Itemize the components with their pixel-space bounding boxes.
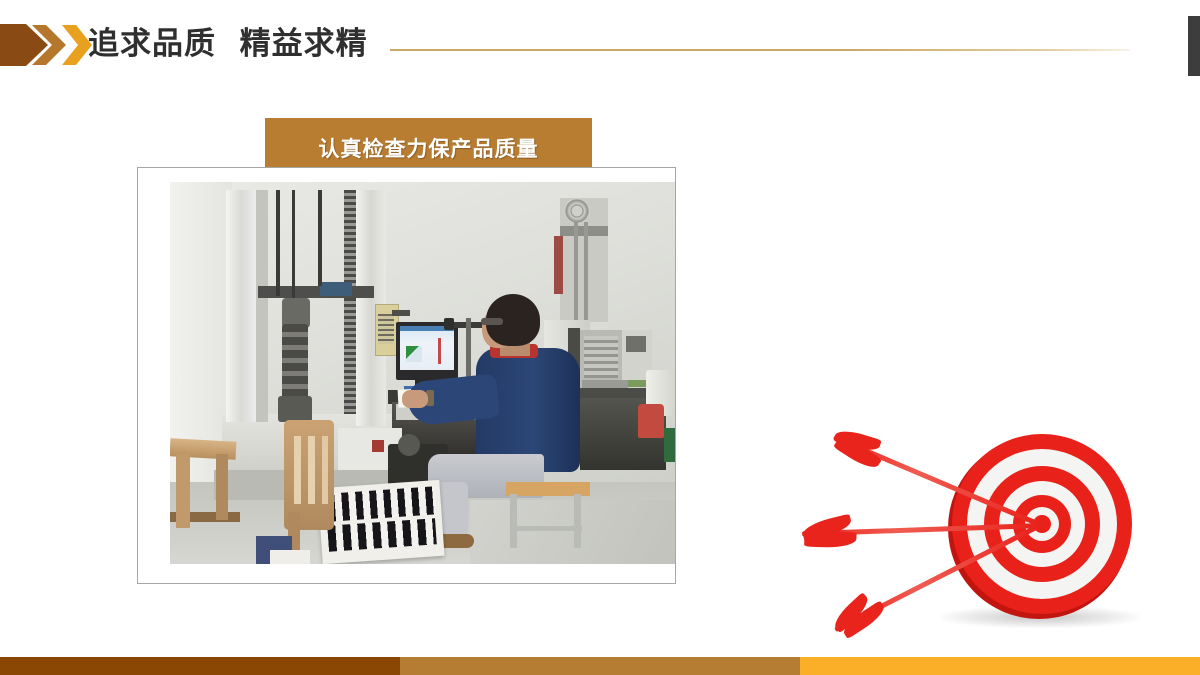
photo-fixture-knob-left [444, 318, 454, 330]
header-divider-rule [390, 49, 1130, 51]
photo-machine-column-left [226, 190, 256, 422]
dartboard-graphic [800, 410, 1190, 645]
photo-machine-crosshead-block [320, 282, 352, 296]
page-title: 追求品质 精益求精 [88, 22, 368, 66]
photo-stool-crossbar [510, 526, 582, 531]
photo-box-paper [270, 550, 310, 564]
header-accent-block [1188, 16, 1200, 76]
photo-wall-rod-b [584, 222, 588, 322]
inspection-photo [170, 182, 675, 564]
dart-lower-fletching [828, 423, 892, 474]
photo-wooden-bench-leg-b [216, 454, 228, 520]
footer-segment-medium-brown [400, 657, 800, 675]
footer-color-bar [0, 657, 1200, 675]
footer-segment-amber [800, 657, 1200, 675]
footer-segment-dark-brown [0, 657, 400, 675]
photo-machine-cable-c [318, 190, 322, 286]
photo-machine-cable-b [292, 190, 295, 298]
photo-green-panel [664, 428, 675, 462]
photo-control-pendant-keys [378, 314, 394, 344]
photo-floor-tile [470, 500, 675, 564]
photo-stool-leg-b [574, 494, 581, 548]
chevron-arrows-icon [0, 24, 92, 66]
chevron-decoration [0, 24, 92, 66]
photo-cabinet-c-panel [626, 336, 646, 352]
fletch-vane-d [804, 530, 857, 548]
photo-machine-cable-a [276, 190, 280, 296]
photo-cabinet-vent [584, 336, 618, 378]
photo-handwheel [564, 198, 590, 224]
photo-stool-leg-a [510, 494, 517, 548]
dart-middle-fletching [802, 516, 859, 550]
photo-wooden-bench-leg-a [176, 454, 190, 528]
photo-machine-column-left-inner [256, 190, 268, 422]
slide-header: 追求品质 精益求精 [0, 0, 1200, 90]
dart-upper-fletching [828, 591, 892, 645]
photo-caption-text: 认真检查力保产品质量 [319, 133, 539, 163]
photo-monitor-plot [406, 346, 422, 362]
photo-red-object [638, 404, 664, 438]
photo-wall-strip [554, 236, 563, 294]
photo-chair-slat-a [294, 436, 301, 504]
photo-wall-rod-a [574, 222, 578, 322]
photo-tools [582, 380, 628, 388]
photo-person-hand [402, 390, 428, 408]
photo-chair-slat-c [322, 436, 328, 504]
photo-control-pendant-arm [392, 310, 410, 316]
photo-machine-red-label [372, 440, 384, 452]
photo-machine-grip-bottom [278, 396, 312, 422]
photo-person-glasses [481, 318, 503, 325]
photo-chair-slat-b [308, 436, 315, 504]
photo-monitor-red-marker [438, 338, 441, 364]
photo-cart-wheel [398, 434, 420, 456]
